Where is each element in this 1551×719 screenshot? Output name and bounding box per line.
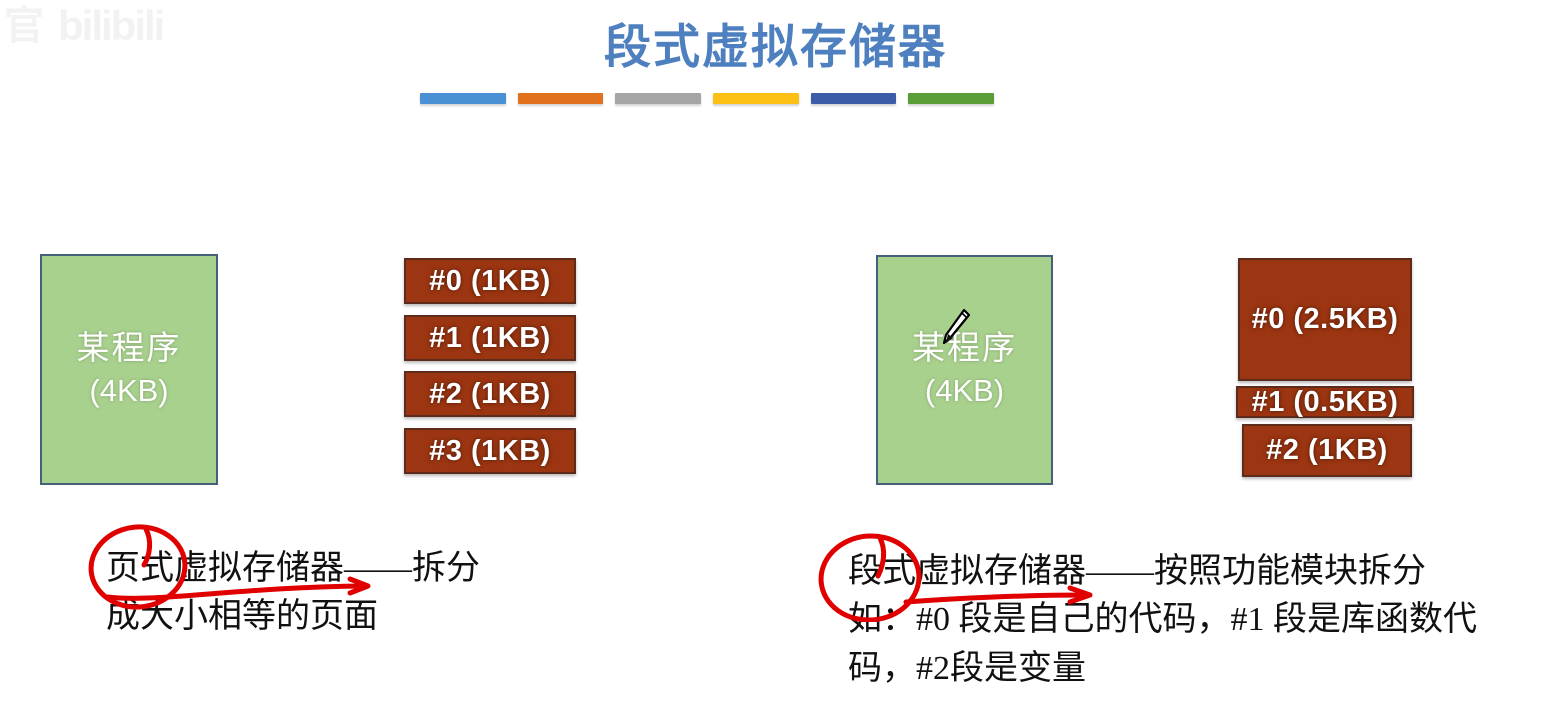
paging-program-name: 某程序 xyxy=(77,330,182,369)
accent-bar-row xyxy=(420,93,994,105)
paging-program-box: 某程序 (4KB) xyxy=(40,254,218,485)
accent-bar-green xyxy=(908,93,994,104)
accent-bar-orange xyxy=(518,93,604,104)
page-block-1: #1 (1KB) xyxy=(404,315,576,361)
segmentation-program-name: 某程序 xyxy=(912,330,1017,369)
segment-block-0: #0 (2.5KB) xyxy=(1238,258,1412,381)
paging-caption: 页式虚拟存储器——拆分 成大小相等的页面 xyxy=(106,545,576,642)
page-block-0: #0 (1KB) xyxy=(404,258,576,304)
segmentation-program-box: 某程序 (4KB) xyxy=(876,255,1053,485)
slide-canvas: 官 bilibili 段式虚拟存储器 某程序 (4KB) #0 (1KB) #1… xyxy=(0,0,1551,719)
paging-program-size: (4KB) xyxy=(89,373,168,410)
accent-bar-yellow xyxy=(713,93,799,104)
segmentation-caption: 段式虚拟存储器——按照功能模块拆分 如：#0 段是自己的代码，#1 段是库函数代… xyxy=(848,548,1548,693)
segment-block-1: #1 (0.5KB) xyxy=(1236,386,1414,418)
accent-bar-blue xyxy=(420,93,506,104)
segmentation-program-size: (4KB) xyxy=(925,373,1004,410)
accent-bar-gray xyxy=(615,93,701,104)
segment-block-2: #2 (1KB) xyxy=(1242,424,1412,477)
page-title: 段式虚拟存储器 xyxy=(0,8,1551,77)
page-block-3: #3 (1KB) xyxy=(404,428,576,474)
page-block-2: #2 (1KB) xyxy=(404,371,576,417)
accent-bar-dark-blue xyxy=(811,93,897,104)
